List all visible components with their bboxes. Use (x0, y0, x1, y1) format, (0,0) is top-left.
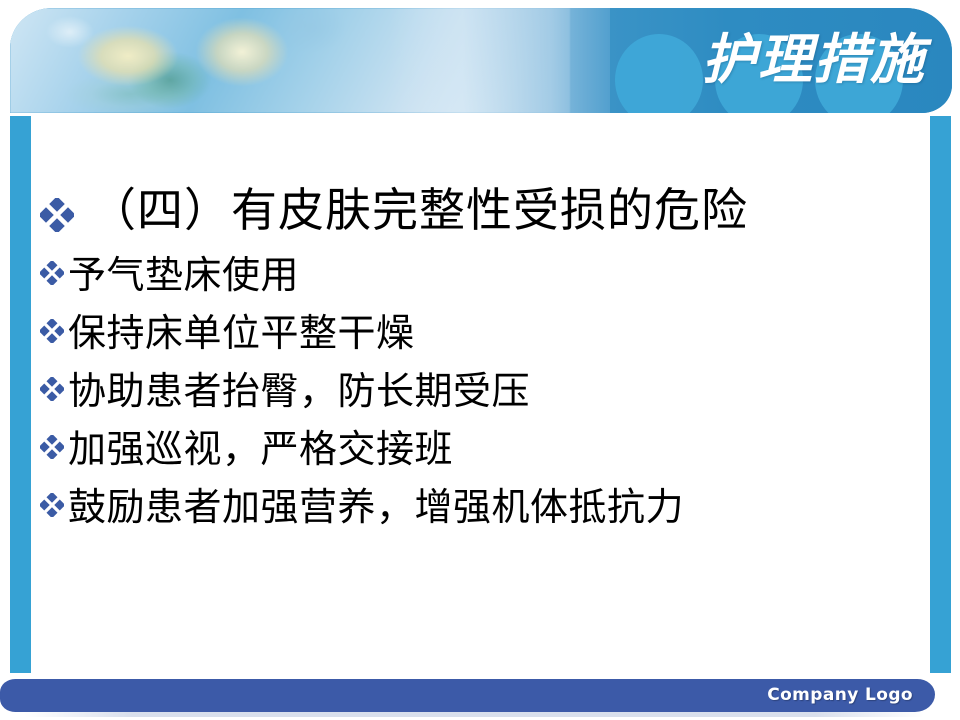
bullet-item-row: 保持床单位平整干燥 (40, 306, 920, 362)
bullet-item-row: 加强巡视，严格交接班 (40, 422, 920, 478)
diamond-cluster-bullet-icon (40, 306, 68, 343)
bullet-item-text: 鼓励患者加强营养，增强机体抵抗力 (68, 480, 684, 536)
bullet-item-row: 协助患者抬臀，防长期受压 (40, 364, 920, 420)
right-accent-stripe (930, 116, 951, 673)
slide-footer-bar: Company Logo (0, 679, 935, 712)
bullet-item-text: 保持床单位平整干燥 (68, 306, 415, 362)
slide-body: （四）有皮肤完整性受损的危险 予气垫床使用 (40, 180, 920, 620)
bullet-item-text: 加强巡视，严格交接班 (68, 422, 453, 478)
footer-shadow (24, 712, 924, 717)
bullet-heading-row: （四）有皮肤完整性受损的危险 (40, 180, 920, 242)
company-logo-text: Company Logo (767, 679, 913, 712)
diamond-cluster-bullet-icon (40, 180, 82, 232)
bullet-item-text: 协助患者抬臀，防长期受压 (68, 364, 530, 420)
bullet-item-row: 鼓励患者加强营养，增强机体抵抗力 (40, 480, 920, 536)
bullet-item-text: 予气垫床使用 (68, 248, 299, 304)
slide-canvas: 护理措施 （四）有皮肤完整性受损的危险 (0, 0, 960, 720)
diamond-cluster-bullet-icon (40, 422, 68, 459)
bullet-item-row: 予气垫床使用 (40, 248, 920, 304)
diamond-cluster-bullet-icon (40, 364, 68, 401)
diamond-cluster-bullet-icon (40, 248, 68, 285)
bullet-heading-text: （四）有皮肤完整性受损的危险 (82, 180, 748, 242)
slide-title: 护理措施 (660, 24, 940, 96)
diamond-cluster-bullet-icon (40, 480, 68, 517)
left-accent-stripe (10, 116, 31, 673)
